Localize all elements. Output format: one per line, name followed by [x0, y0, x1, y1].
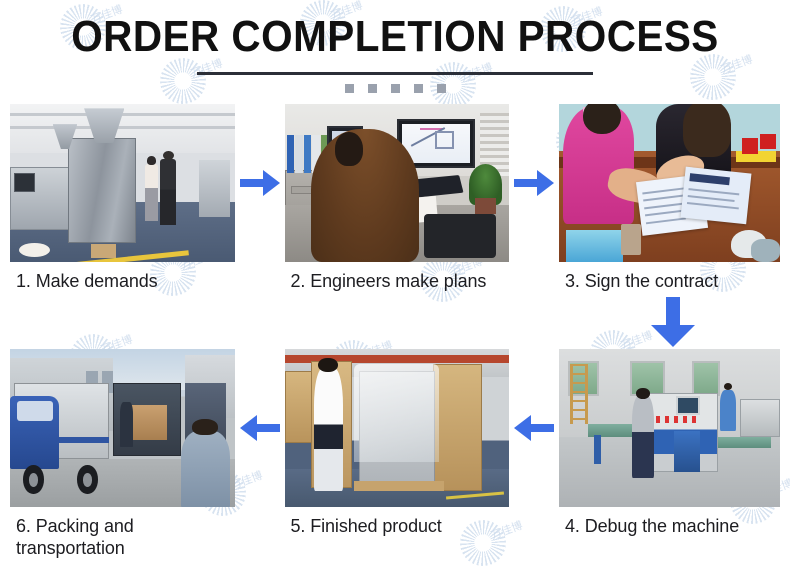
finished-product-scene [285, 349, 510, 507]
document-header [689, 173, 729, 185]
person-head [163, 151, 174, 160]
conveyor-leg [594, 435, 601, 463]
person-staff [160, 159, 176, 225]
contract-signing-scene [559, 104, 780, 262]
process-step-3: 3. Sign the contract [559, 104, 780, 293]
page-header: ORDER COMPLETION PROCESS [0, 0, 790, 93]
red-stamp-box [742, 138, 757, 154]
process-row-top: 1. Make demands [10, 104, 780, 293]
arrow-gutter [235, 349, 285, 507]
person-head [583, 104, 621, 134]
page-title: ORDER COMPLETION PROCESS [32, 12, 759, 63]
person-hair [683, 104, 732, 158]
truck-loading-scene [10, 349, 235, 507]
background-worker [720, 390, 735, 431]
book [304, 135, 312, 173]
person-head [636, 388, 650, 400]
divider-dot [391, 84, 400, 93]
title-divider-rule [197, 72, 593, 75]
step-1-caption: 1. Make demands [10, 262, 235, 293]
step-3-photo [559, 104, 780, 262]
packing-worker [314, 368, 343, 491]
wooden-crate [433, 364, 482, 490]
cad-screen [402, 124, 471, 163]
arrow-gutter [509, 349, 559, 507]
factory-machine-scene [10, 104, 235, 262]
arrow-gutter [235, 104, 285, 262]
truck-wheel [23, 465, 43, 493]
step-4-photo [559, 349, 780, 507]
step-5-photo [285, 349, 510, 507]
step-2-photo [285, 104, 510, 262]
workshop-window [692, 361, 721, 396]
person-customer [145, 164, 158, 221]
machine-debug-scene [559, 349, 780, 507]
pen-holder [621, 224, 641, 256]
process-row-bottom: 6. Packing and transportation [10, 349, 780, 560]
loading-worker [120, 402, 133, 446]
control-panel [14, 173, 34, 192]
process-step-1: 1. Make demands [10, 104, 235, 293]
process-step-2: 2. Engineers make plans [285, 104, 510, 293]
truck-windshield [17, 401, 53, 422]
arrow-down-icon [651, 297, 695, 347]
person-head [147, 156, 157, 165]
step-4-caption: 4. Debug the machine [559, 507, 780, 538]
step-2-caption: 2. Engineers make plans [285, 262, 510, 293]
arrow-left-icon [240, 415, 280, 441]
divider-dot [345, 84, 354, 93]
step-6-caption: 6. Packing and transportation [10, 507, 235, 560]
machine-body-panel [674, 431, 701, 472]
pallet-base [354, 481, 444, 490]
arrow-gutter [509, 104, 559, 262]
title-divider-dots [0, 84, 790, 93]
step-5-caption: 5. Finished product [285, 507, 510, 538]
person-head [335, 132, 363, 167]
step-1-photo [10, 104, 235, 262]
foreground-person [181, 431, 230, 507]
book [295, 135, 303, 173]
process-step-6: 6. Packing and transportation [10, 349, 235, 560]
truck-wheel [77, 465, 97, 493]
blue-package [566, 230, 623, 262]
plant-pot [475, 198, 495, 214]
background-machine [740, 399, 780, 437]
person-head [318, 358, 338, 373]
machine-control-screen [676, 396, 700, 415]
red-stamp-box [760, 134, 775, 150]
ceiling-beam [10, 126, 235, 129]
drawing-tablet [424, 214, 496, 258]
process-grid: 1. Make demands [0, 104, 790, 560]
engineer-desk-scene [285, 104, 510, 262]
row-connector [10, 293, 780, 349]
divider-dot [437, 84, 446, 93]
cad-drawing [435, 131, 454, 148]
person-head [724, 383, 733, 390]
person-head [192, 419, 218, 436]
machine-buttons [656, 416, 696, 422]
background-machine [199, 160, 230, 217]
arrow-right-icon [514, 170, 554, 196]
book [287, 135, 295, 173]
engineer-person [311, 129, 419, 262]
step-3-caption: 3. Sign the contract [559, 262, 780, 293]
step-6-photo [10, 349, 235, 507]
process-step-4: 4. Debug the machine [559, 349, 780, 538]
debug-technician [632, 396, 654, 478]
divider-dot [368, 84, 377, 93]
divider-dot [414, 84, 423, 93]
cardboard-box [91, 244, 116, 258]
arrow-right-icon [240, 170, 280, 196]
contract-document [680, 167, 751, 224]
arrow-left-icon [514, 415, 554, 441]
plastic-wrap [354, 364, 439, 462]
packaging-machine [68, 138, 135, 242]
floor-object [19, 243, 50, 257]
tea-cup [751, 239, 780, 261]
process-step-5: 5. Finished product [285, 349, 510, 538]
ladder [570, 364, 588, 424]
